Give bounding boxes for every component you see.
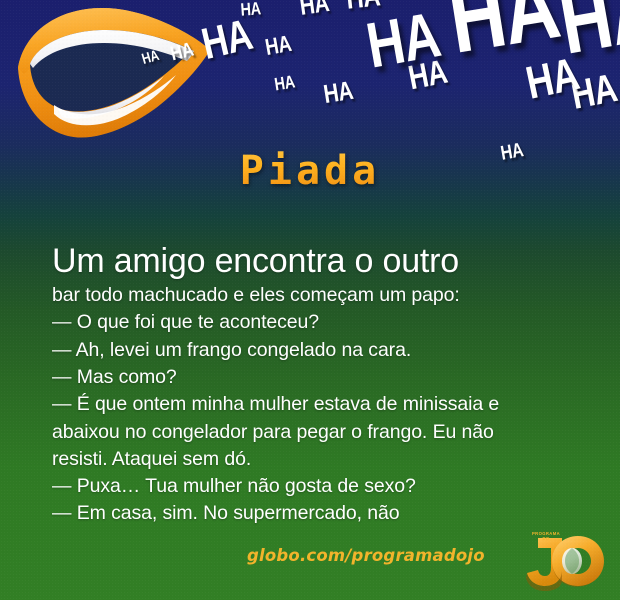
joke-line: resisti. Ataquei sem dó. xyxy=(52,446,580,473)
logo-caption-line-2: DO xyxy=(542,536,549,541)
joke-text-block: Um amigo encontra o outro bar todo machu… xyxy=(52,243,580,528)
joke-line: abaixou no congelador para pegar o frang… xyxy=(52,419,580,446)
joke-line: — Em casa, sim. No supermercado, não xyxy=(52,500,580,527)
footer: globo.com/programadojo xyxy=(0,530,620,600)
joke-line: — Puxa… Tua mulher não gosta de sexo? xyxy=(52,473,580,500)
joke-line: bar todo machucado e eles começam um pap… xyxy=(52,282,580,309)
joke-line: — O que foi que te aconteceu? xyxy=(52,309,580,336)
laugh-text: HA xyxy=(199,17,255,63)
joke-body-lines: bar todo machucado e eles começam um pap… xyxy=(52,282,580,528)
laugh-text: HA xyxy=(444,0,563,61)
joke-line: — Ah, levei um frango congelado na cara. xyxy=(52,337,580,364)
joke-line: — Mas como? xyxy=(52,364,580,391)
laugh-text: HA xyxy=(500,142,525,162)
laugh-text: HA xyxy=(141,50,161,66)
joke-line: — É que ontem minha mulher estava de min… xyxy=(52,391,580,418)
site-url[interactable]: globo.com/programadojo xyxy=(247,546,485,565)
laughing-mouth-icon xyxy=(6,2,211,152)
laugh-text: HA xyxy=(322,80,354,106)
joke-card: HAHAHAHAHAHAHAHAHAHAHAHAHAHAHAHA Piada U… xyxy=(0,0,620,600)
logo-caption-line-1: PROGRAMA xyxy=(532,531,560,536)
laugh-text: HA xyxy=(273,75,295,93)
header-artwork: HAHAHAHAHAHAHAHAHAHAHAHAHAHAHAHA Piada xyxy=(0,0,620,215)
laugh-text: HA xyxy=(264,34,293,57)
laugh-text: HA xyxy=(169,42,195,63)
logo-caption: PROGRAMA DO xyxy=(522,531,570,542)
page-title: Piada xyxy=(0,148,620,194)
laugh-text: HA xyxy=(298,0,330,17)
joke-headline: Um amigo encontra o outro xyxy=(52,243,580,279)
laugh-text: HA xyxy=(363,8,443,72)
